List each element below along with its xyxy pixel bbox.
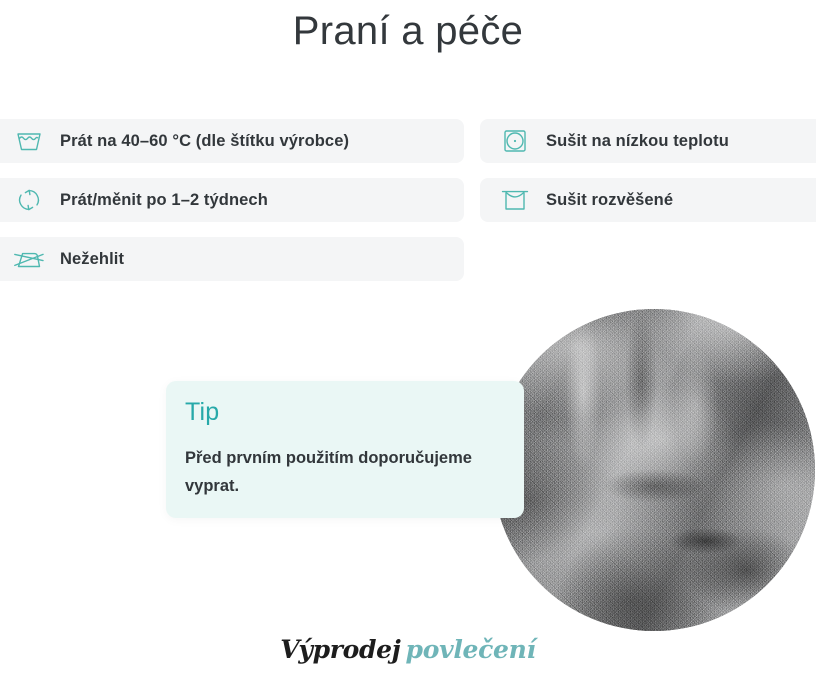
care-label: Nežehlit [60,250,124,269]
brand-logo: Výprodejpovlečení [0,630,816,670]
do-not-iron-icon [14,246,44,272]
tumble-dry-low-icon [500,128,530,154]
care-label: Prát na 40–60 °C (dle štítku výrobce) [60,132,349,151]
wash-tub-icon [14,128,44,154]
tip-body: Před prvním použitím doporučujeme vyprat… [185,444,505,500]
tip-card: Tip Před prvním použitím doporučujeme vy… [166,381,524,518]
fabric-grain [493,309,815,631]
care-row-drip-dry[interactable]: Sušit rozvěšené [480,178,816,222]
fabric-photo [493,309,815,631]
page-title: Praní a péče [0,4,816,58]
care-list-left: Prát na 40–60 °C (dle štítku výrobce) Pr… [0,119,464,296]
refresh-cycle-icon [14,187,44,213]
tip-title: Tip [185,398,219,427]
care-row-tumble-dry-low[interactable]: Sušit na nízkou teplotu [480,119,816,163]
care-label: Sušit rozvěšené [546,191,673,210]
drip-dry-icon [500,187,530,213]
care-label: Sušit na nízkou teplotu [546,132,729,151]
brand-word-primary: Výprodej [280,635,400,664]
brand-word-secondary: povlečení [406,635,536,664]
care-label: Prát/měnit po 1–2 týdnech [60,191,268,210]
care-row-wash-frequency[interactable]: Prát/měnit po 1–2 týdnech [0,178,464,222]
care-row-wash-temperature[interactable]: Prát na 40–60 °C (dle štítku výrobce) [0,119,464,163]
care-row-do-not-iron[interactable]: Nežehlit [0,237,464,281]
care-list-right: Sušit na nízkou teplotu Sušit rozvěšené [480,119,816,237]
